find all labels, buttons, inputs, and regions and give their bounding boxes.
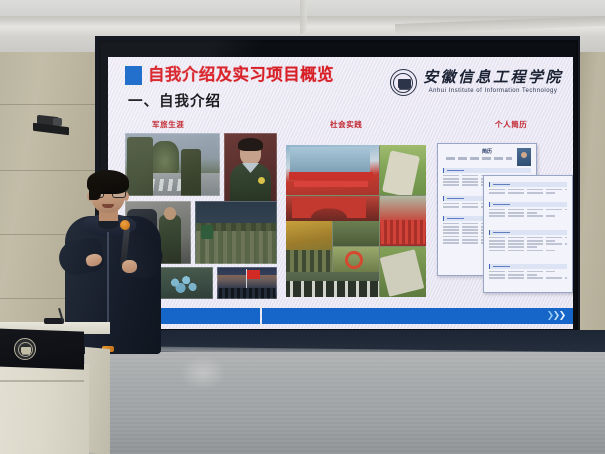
photo-group-squad <box>195 201 277 264</box>
chevron-right-icon <box>548 311 565 320</box>
lecture-hall-scene: 自我介绍及实习项目概览 一、自我介绍 安徽信息工程学院 Anhui Instit… <box>0 0 605 454</box>
section-caption-resume: 个人简历 <box>495 119 527 130</box>
resume-photo <box>517 148 531 166</box>
university-emblem-icon <box>14 338 36 360</box>
presenter-right-hand <box>122 260 137 273</box>
floor-reflection <box>180 356 226 390</box>
section-caption-military: 军旅生涯 <box>152 119 184 130</box>
wall-camera-icon <box>33 116 69 134</box>
lectern-panel <box>0 328 84 369</box>
slide-title: 自我介绍及实习项目概览 <box>148 67 334 84</box>
university-logo: 安徽信息工程学院 Anhui Institute of Information … <box>390 69 563 96</box>
ceiling-beam-vertical <box>300 0 307 34</box>
presenter-hair <box>87 170 129 194</box>
section-caption-social: 社会实践 <box>330 119 362 130</box>
slide-subtitle: 一、自我介绍 <box>128 90 221 111</box>
lectern <box>0 322 110 454</box>
resume-contact-line <box>446 157 512 160</box>
photo-collage-social-practice <box>286 145 426 297</box>
slide: 自我介绍及实习项目概览 一、自我介绍 安徽信息工程学院 Anhui Instit… <box>108 57 573 329</box>
logo-name-en: Anhui Institute of Information Technolog… <box>423 88 563 94</box>
logo-name-cn: 安徽信息工程学院 <box>423 71 563 87</box>
title-accent-block <box>125 66 142 85</box>
footer-right-bar <box>262 308 573 324</box>
slide-footer: 创新 <box>108 308 573 324</box>
photo-flag-ceremony <box>217 267 277 299</box>
university-seal-icon <box>390 69 417 96</box>
photo-portrait-uniform <box>224 133 277 211</box>
slide-title-row: 自我介绍及实习项目概览 <box>125 66 334 85</box>
resume-document-page2 <box>483 175 573 293</box>
